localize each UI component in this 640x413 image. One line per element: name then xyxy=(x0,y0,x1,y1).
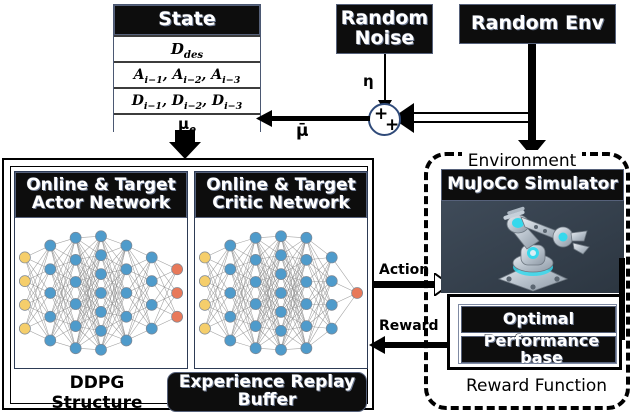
mujoco-simulator-image xyxy=(441,201,624,293)
random-env-trunk xyxy=(528,44,536,147)
reward-function-inner: Optimal Performance base xyxy=(458,304,617,364)
state-row-d-des: Ddes xyxy=(114,35,260,63)
reward-function-box: Optimal Performance base xyxy=(447,294,622,370)
mujoco-simulator-title-label: MuJoCo Simulator xyxy=(447,176,617,194)
state-row-distances: Di−1, Di−2, Di−3 xyxy=(114,87,260,115)
mujoco-simulator-title: MuJoCo Simulator xyxy=(441,169,624,201)
critic-network-header: Online & Target Critic Network xyxy=(195,172,367,218)
random-noise-label-line1: Random xyxy=(341,9,428,29)
state-row-d-des-label: Ddes xyxy=(171,40,203,61)
state-title: State xyxy=(114,5,260,35)
mu-bar-arrowhead xyxy=(256,110,272,127)
random-env-label: Random Env xyxy=(471,14,604,34)
actor-network-header: Online & Target Actor Network xyxy=(15,172,187,218)
summing-junction-plus-right: + xyxy=(385,115,399,135)
critic-network-panel: Online & Target Critic Network xyxy=(194,171,368,369)
critic-header-line2: Critic Network xyxy=(212,195,350,213)
reward-item-performance-base-label: Performance base xyxy=(468,333,615,367)
state-row-distances-label: Di−1, Di−2, Di−3 xyxy=(132,93,243,112)
state-row-actions: Ai−1, Ai−2, Ai−3 xyxy=(114,61,260,89)
reward-arrowhead xyxy=(369,336,385,354)
actor-network-graph xyxy=(15,218,187,368)
diagram-canvas: State Ddes Ai−1, Ai−2, Ai−3 Di−1, Di−2, … xyxy=(0,0,640,413)
reward-item-performance-base: Performance base xyxy=(461,336,616,363)
mu-bar-symbol: μ̄ xyxy=(296,121,309,141)
environment-label: Environment xyxy=(462,151,582,171)
state-row-actions-label: Ai−1, Ai−2, Ai−3 xyxy=(134,67,241,86)
eta-symbol: η xyxy=(363,72,374,90)
noise-arrow-line xyxy=(384,54,386,104)
actor-header-line2: Actor Network xyxy=(32,195,170,213)
experience-replay-buffer-box: Experience Replay Buffer xyxy=(167,372,367,412)
buffer-label-line2: Buffer xyxy=(238,392,297,410)
random-env-to-sum-line-top xyxy=(408,112,530,114)
reward-function-label: Reward Function xyxy=(459,376,614,396)
random-env-box: Random Env xyxy=(459,4,616,44)
reward-item-optimal-label: Optimal xyxy=(503,311,574,328)
random-noise-label-line2: Noise xyxy=(355,29,415,49)
ddpg-structure-label-line1: DDPG xyxy=(32,374,162,394)
ddpg-structure-label-line2: Structure xyxy=(32,394,162,413)
reward-item-optimal: Optimal xyxy=(461,306,616,333)
critic-network-graph xyxy=(195,218,367,368)
action-signal-label: Action xyxy=(379,262,429,278)
state-box: State Ddes Ai−1, Ai−2, Ai−3 Di−1, Di−2, … xyxy=(113,4,261,132)
ddpg-structure-label: DDPG Structure xyxy=(32,374,162,413)
mu-bar-line xyxy=(268,116,370,121)
random-noise-box: Random Noise xyxy=(336,4,433,54)
actor-network-panel: Online & Target Actor Network xyxy=(14,171,188,369)
ddpg-structure-frame: Online & Target Actor Network Online & T… xyxy=(2,158,374,410)
state-to-ddpg-arrowhead xyxy=(168,130,202,160)
random-env-to-sum-line-bottom xyxy=(408,121,530,123)
